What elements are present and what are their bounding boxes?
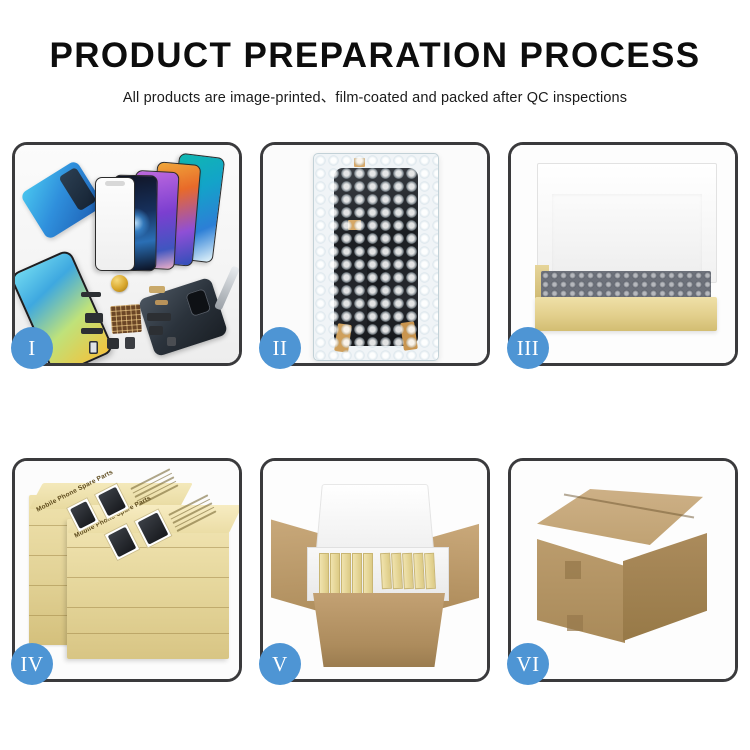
small-part-a (81, 292, 101, 297)
small-part-e (81, 328, 103, 334)
carton-right-face (623, 533, 707, 641)
small-part-g (149, 326, 163, 335)
bubble-texture (314, 154, 438, 360)
box-front-panel (535, 297, 717, 331)
sealed-carton-icon (511, 461, 735, 679)
step-badge-4: IV (11, 643, 53, 685)
phone-parts-icon (15, 145, 239, 363)
step-badge-2: II (259, 327, 301, 369)
small-part-i (125, 337, 135, 349)
phone-fan-icon (95, 157, 239, 269)
process-step-1: I (12, 142, 242, 366)
process-step-5: V (260, 458, 490, 682)
small-part-f (147, 313, 171, 321)
small-part-j (89, 341, 98, 354)
step-5-image (263, 461, 487, 679)
step-badge-3: III (507, 327, 549, 369)
speaker-part-icon (111, 275, 128, 292)
small-part-b (149, 286, 165, 293)
step-1-image (15, 145, 239, 363)
step-badge-1: I (11, 327, 53, 369)
process-step-6: VI (508, 458, 738, 682)
step-6-image (511, 461, 735, 679)
small-part-h (107, 338, 119, 349)
box-lid-inner (552, 194, 702, 282)
small-part-k (167, 337, 176, 346)
box-stack-icon: Mobile Phone Spare Parts Mobile Phone Sp… (15, 461, 239, 679)
phone-display-1 (95, 177, 135, 271)
bubble-wrap-icon (263, 145, 487, 363)
process-step-4: Mobile Phone Spare Parts Mobile Phone Sp… (12, 458, 242, 682)
page-header: PRODUCT PREPARATION PROCESS All products… (0, 38, 750, 107)
open-box-icon (511, 145, 735, 363)
screen-film-icon (20, 160, 105, 241)
carton-tape-upper (565, 561, 581, 579)
step-badge-6: VI (507, 643, 549, 685)
screwdriver-icon (214, 265, 239, 310)
chip-grid-icon (110, 304, 142, 334)
carton-tape-lower (567, 615, 583, 631)
page-subtitle: All products are image-printed、film-coat… (0, 86, 750, 107)
carton-top-face (537, 489, 703, 545)
foam-carton-icon (263, 461, 487, 679)
step-2-image (263, 145, 487, 363)
page-title: PRODUCT PREPARATION PROCESS (0, 38, 750, 75)
product-preparation-page: PRODUCT PREPARATION PROCESS All products… (0, 0, 750, 750)
step-badge-5: V (259, 643, 301, 685)
yellow-boxes-group-2 (319, 553, 437, 593)
step-4-image: Mobile Phone Spare Parts Mobile Phone Sp… (15, 461, 239, 679)
step-3-image (511, 145, 735, 363)
process-step-3: III (508, 142, 738, 366)
small-part-d (85, 313, 103, 323)
carton-body (313, 593, 445, 667)
foam-lid (316, 484, 434, 551)
bubble-bag (313, 153, 439, 361)
small-part-c (155, 300, 168, 305)
process-steps-grid: I II (12, 142, 738, 682)
box-lid (537, 163, 717, 283)
process-step-2: II (260, 142, 490, 366)
